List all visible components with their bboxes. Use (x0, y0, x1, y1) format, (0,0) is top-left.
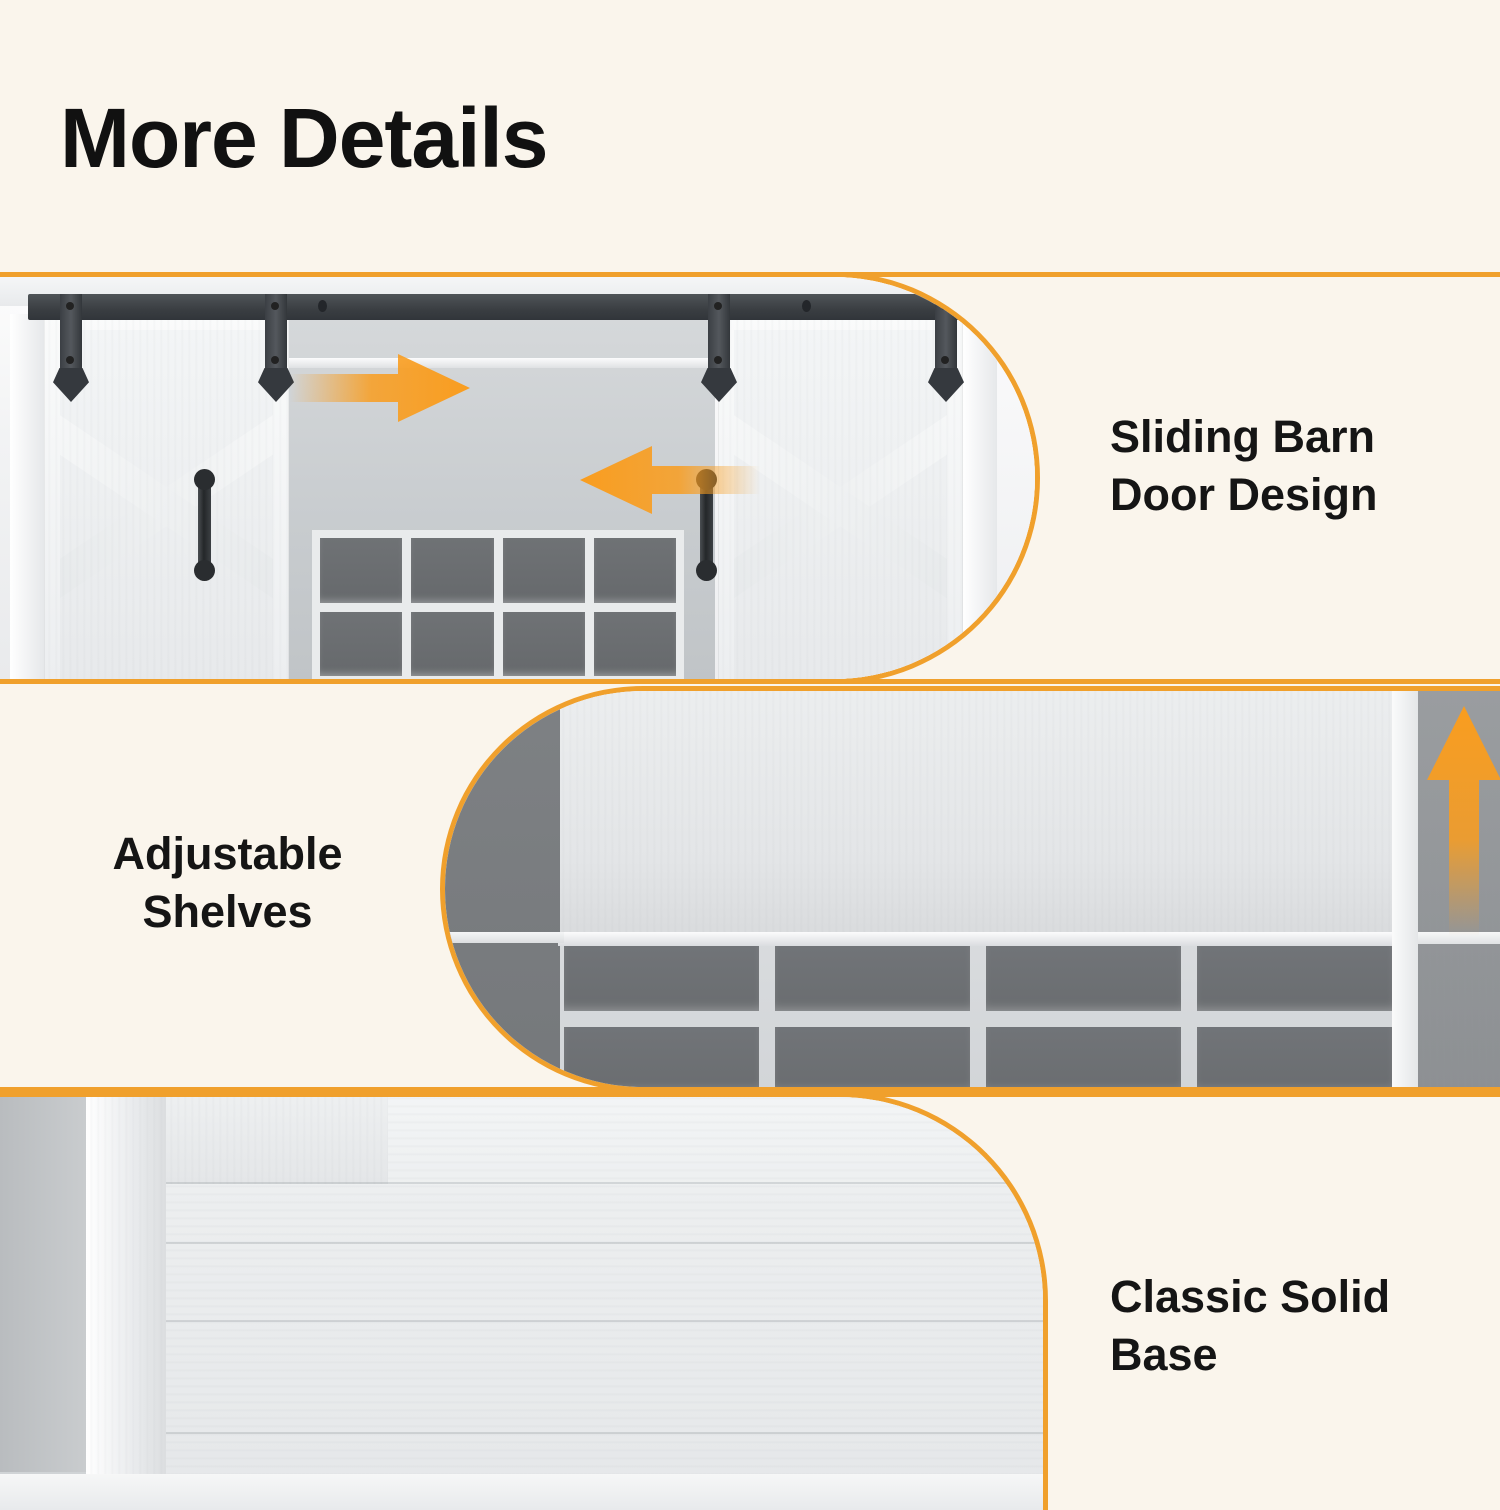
feature-label-classic-solid-base: Classic Solid Base (1110, 1268, 1390, 1383)
feature-panel-adjustable-shelves (440, 686, 1500, 1092)
slide-right-arrow (290, 352, 470, 424)
feature-label-adjustable-shelves: Adjustable Shelves (55, 825, 400, 940)
left-door-handle (198, 477, 211, 573)
label-line-1: Adjustable (55, 825, 400, 883)
page-title: More Details (60, 96, 548, 180)
label-line-2: Shelves (55, 883, 400, 941)
feature-panel-classic-solid-base (0, 1092, 1048, 1510)
door-hanger-strap (935, 294, 957, 374)
barn-door-photo (0, 277, 1035, 679)
door-hanger-strap (265, 294, 287, 374)
label-line-1: Sliding Barn (1110, 408, 1378, 466)
cubby-grid (558, 946, 1398, 1087)
label-line-1: Classic Solid (1110, 1268, 1390, 1326)
feature-label-sliding-barn-door: Sliding Barn Door Design (1110, 408, 1378, 523)
cubby-grid (312, 530, 684, 679)
shelf-raise-arrow (1425, 706, 1500, 936)
feature-panel-sliding-barn-door (0, 272, 1040, 684)
slide-left-arrow (580, 444, 760, 516)
label-line-2: Door Design (1110, 466, 1378, 524)
infographic-canvas: More Details (0, 0, 1500, 1500)
door-hanger-strap (60, 294, 82, 374)
label-line-2: Base (1110, 1326, 1390, 1384)
door-hanger-strap (708, 294, 730, 374)
solid-base-photo (0, 1097, 1043, 1510)
barn-door-rail (28, 294, 1035, 320)
adjustable-shelves-photo (445, 691, 1500, 1087)
